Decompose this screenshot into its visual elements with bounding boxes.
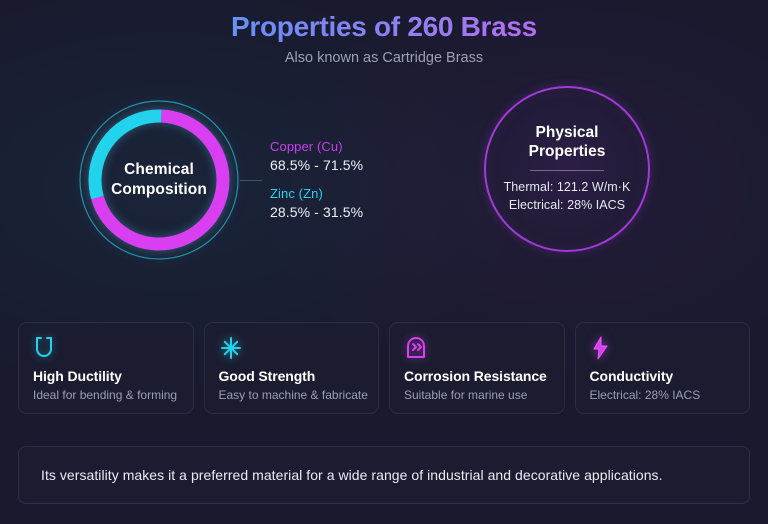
donut-center-line2: Composition [111,180,207,200]
physical-thermal-value: Thermal: 121.2 W/m·K [504,178,631,197]
physical-electrical-value: Electrical: 28% IACS [509,196,625,215]
legend-item-zinc: Zinc (Zn) 28.5% - 31.5% [270,185,363,222]
donut-chart: Chemical Composition [76,97,242,263]
donut-center-line1: Chemical [124,160,194,180]
physical-title-line1: Physical [529,123,606,143]
composition-legend: Copper (Cu) 68.5% - 71.5% Zinc (Zn) 28.5… [270,138,363,222]
physical-divider [530,170,604,171]
header: Properties of 260 Brass Also known as Ca… [0,0,768,66]
footer-text: Its versatility makes it a preferred mat… [41,467,663,483]
feature-card-desc: Suitable for marine use [404,388,564,402]
legend-label-copper: Copper (Cu) [270,138,363,155]
donut-center-label: Chemical Composition [76,97,242,263]
legend-connector-line [240,180,262,181]
page-subtitle: Also known as Cartridge Brass [0,50,768,66]
feature-card-corrosion-resistance[interactable]: Corrosion Resistance Suitable for marine… [389,322,565,414]
feature-card-desc: Electrical: 28% IACS [590,388,750,402]
infographic-page: Properties of 260 Brass Also known as Ca… [0,0,768,524]
feature-card-title: Good Strength [219,368,379,384]
shield-icon [404,335,564,361]
legend-label-zinc: Zinc (Zn) [270,185,363,202]
feature-card-good-strength[interactable]: Good Strength Easy to machine & fabricat… [204,322,380,414]
footer-banner: Its versatility makes it a preferred mat… [18,446,750,504]
sparkle-icon [219,335,379,361]
feature-card-desc: Easy to machine & fabricate [219,388,379,402]
feature-cards: High Ductility Ideal for bending & formi… [18,322,750,414]
feature-card-high-ductility[interactable]: High Ductility Ideal for bending & formi… [18,322,194,414]
legend-value-zinc: 28.5% - 31.5% [270,203,363,221]
feature-card-desc: Ideal for bending & forming [33,388,193,402]
bolt-icon [590,335,750,361]
physical-properties-circle: Physical Properties Thermal: 121.2 W/m·K… [484,86,650,252]
visual-row: Chemical Composition Copper (Cu) 68.5% -… [0,80,768,290]
chemical-composition-chart: Chemical Composition Copper (Cu) 68.5% -… [76,80,376,280]
magnet-icon [33,335,193,361]
feature-card-conductivity[interactable]: Conductivity Electrical: 28% IACS [575,322,751,414]
legend-item-copper: Copper (Cu) 68.5% - 71.5% [270,138,363,175]
feature-card-title: High Ductility [33,368,193,384]
physical-title-line2: Properties [529,142,606,162]
physical-properties-title: Physical Properties [529,123,606,162]
legend-value-copper: 68.5% - 71.5% [270,156,363,174]
feature-card-title: Corrosion Resistance [404,368,564,384]
feature-card-title: Conductivity [590,368,750,384]
page-title: Properties of 260 Brass [0,8,768,46]
